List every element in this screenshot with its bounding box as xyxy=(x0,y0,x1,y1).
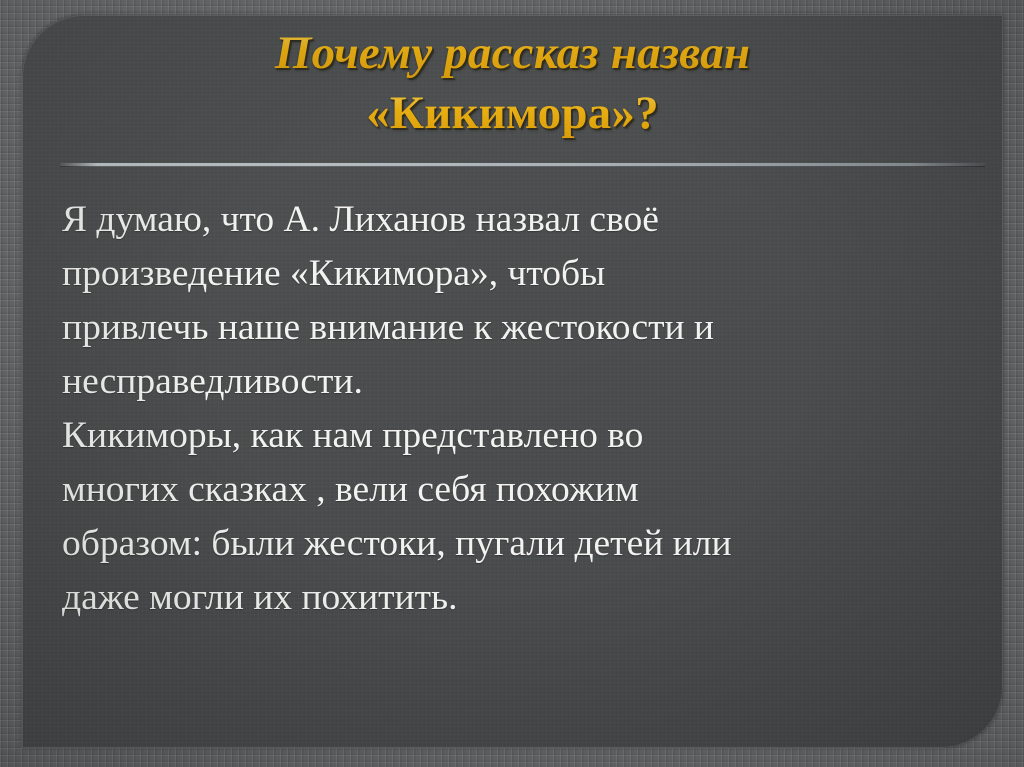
body-line: произведение «Кикимора», чтобы xyxy=(62,247,979,301)
slide-title-line-2: «Кикимора»? xyxy=(22,83,1003,143)
body-line: Кикиморы, как нам представлено во xyxy=(62,409,979,463)
presentation-slide: Почему рассказ назван «Кикимора»? Я дума… xyxy=(0,0,1024,767)
title-divider xyxy=(60,163,985,167)
slide-body: Я думаю, что А. Лиханов назвал своё прои… xyxy=(62,193,979,625)
slide-title: Почему рассказ назван «Кикимора»? xyxy=(22,23,1003,143)
body-line: даже могли их похитить. xyxy=(62,571,979,625)
body-line: образом: были жестоки, пугали детей или xyxy=(62,517,979,571)
body-paragraph-1: Я думаю, что А. Лиханов назвал своё прои… xyxy=(62,193,979,409)
slide-title-line-1: Почему рассказ назван xyxy=(22,23,1003,83)
body-line: Я думаю, что А. Лиханов назвал своё xyxy=(62,193,979,247)
body-paragraph-2: Кикиморы, как нам представлено во многих… xyxy=(62,409,979,625)
body-line: привлечь наше внимание к жестокости и xyxy=(62,301,979,355)
body-line: многих сказках , вели себя похожим xyxy=(62,463,979,517)
slide-content-panel: Почему рассказ назван «Кикимора»? Я дума… xyxy=(22,15,1003,748)
body-line: несправедливости. xyxy=(62,355,979,409)
